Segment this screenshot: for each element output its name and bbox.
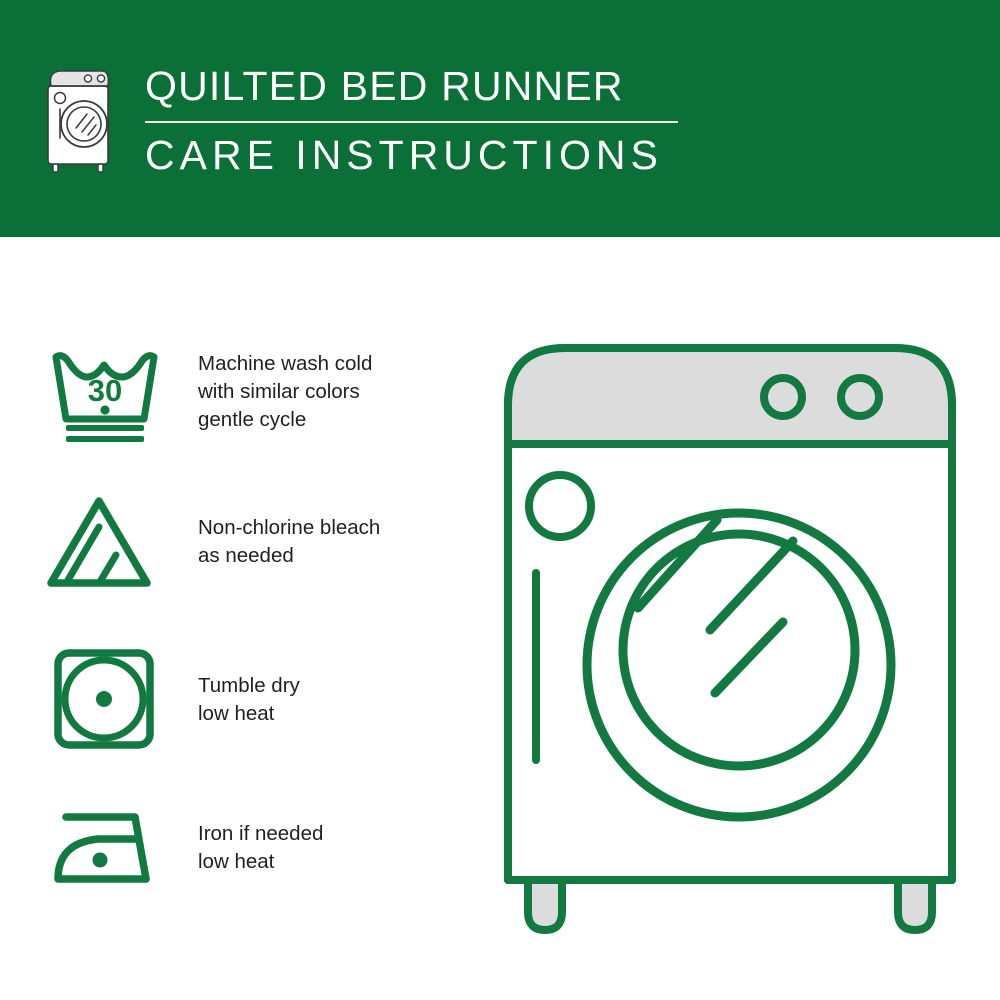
leg-right — [898, 880, 932, 930]
wash-temperature-value: 30 — [88, 373, 122, 408]
non-chlorine-bleach-triangle-icon — [46, 489, 162, 595]
knob-right-icon — [841, 378, 879, 416]
care-item-tumble-dry: Tumble dry low heat — [46, 647, 456, 753]
care-item-label: Iron if needed low heat — [198, 820, 323, 876]
detergent-dial-icon — [529, 475, 591, 537]
care-item-label: Machine wash cold with similar colors ge… — [198, 350, 372, 434]
care-instructions-infographic: QUILTED BED RUNNER CARE INSTRUCTIONS 30 … — [0, 0, 1000, 1000]
page-subtitle: CARE INSTRUCTIONS — [145, 131, 905, 179]
care-item-label: Tumble dry low heat — [198, 672, 300, 728]
washing-machine-icon — [44, 66, 118, 174]
care-item-bleach: Non-chlorine bleach as needed — [46, 489, 456, 595]
door-inner-ring — [623, 534, 855, 766]
page-title: QUILTED BED RUNNER — [145, 62, 905, 110]
iron-low-heat-icon — [46, 795, 162, 901]
wash-tub-30-gentle-icon: 30 — [46, 339, 162, 445]
care-symbol-list: 30 Machine wash cold with similar colors… — [0, 237, 470, 1000]
leg-left — [528, 880, 562, 930]
header-banner: QUILTED BED RUNNER CARE INSTRUCTIONS — [0, 0, 1000, 237]
front-load-washing-machine-illustration — [485, 330, 975, 945]
title-divider — [145, 121, 678, 123]
knob-left-icon — [764, 378, 802, 416]
tumble-dry-low-heat-icon — [46, 647, 162, 753]
care-item-machine-wash: 30 Machine wash cold with similar colors… — [46, 339, 456, 445]
care-item-label: Non-chlorine bleach as needed — [198, 514, 380, 570]
header-text-block: QUILTED BED RUNNER CARE INSTRUCTIONS — [145, 62, 905, 179]
care-item-iron: Iron if needed low heat — [46, 795, 456, 901]
